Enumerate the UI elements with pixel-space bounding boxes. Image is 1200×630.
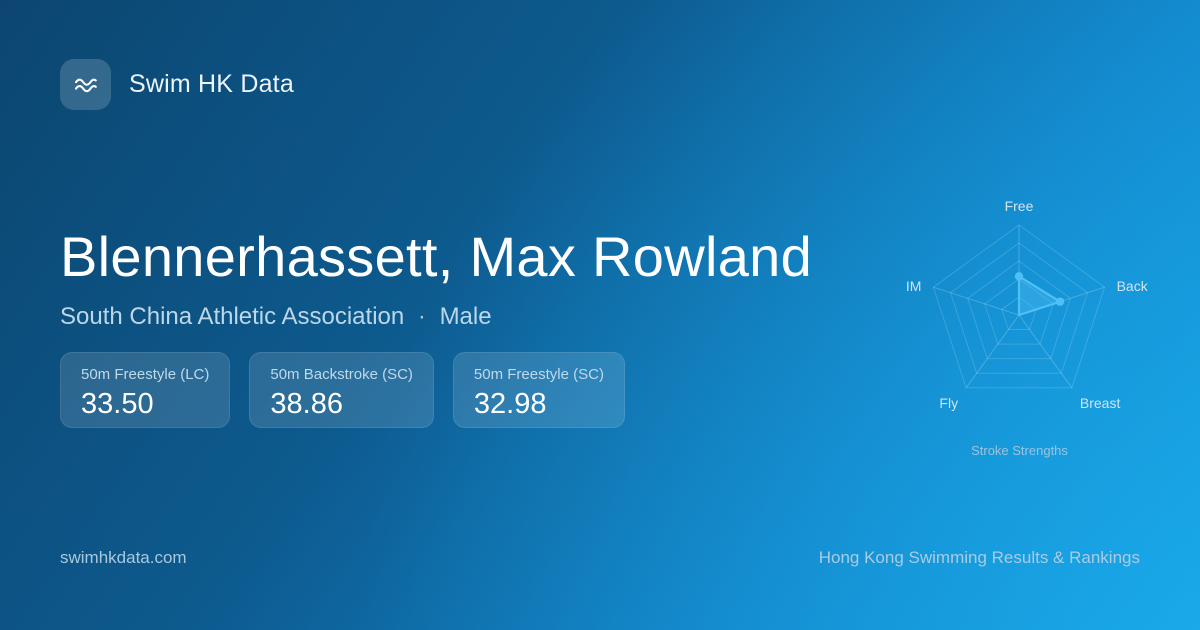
page-title: Blennerhassett, Max Rowland: [60, 222, 880, 292]
stat-card: 50m Freestyle (LC) 33.50: [60, 352, 230, 428]
wave-icon: [60, 59, 111, 110]
svg-text:Breast: Breast: [1080, 395, 1121, 411]
stat-label: 50m Freestyle (LC): [81, 366, 209, 384]
radar-series: [1015, 272, 1064, 315]
footer-site-url: swimhkdata.com: [60, 548, 187, 568]
stat-value: 33.50: [81, 387, 209, 421]
stat-value: 38.86: [270, 387, 413, 421]
og-card: Swim HK Data Blennerhassett, Max Rowland…: [0, 0, 1200, 630]
svg-text:Back: Back: [1117, 278, 1149, 294]
stroke-strengths-radar-chart: FreeBackBreastFlyIM Stroke Strengths: [880, 170, 1170, 470]
brand-lockup: Swim HK Data: [60, 59, 294, 110]
stat-label: 50m Backstroke (SC): [270, 366, 413, 384]
meta-separator: ·: [411, 303, 433, 330]
stat-label: 50m Freestyle (SC): [474, 366, 604, 384]
brand-name: Swim HK Data: [129, 70, 294, 99]
radar-caption: Stroke Strengths: [880, 443, 1159, 458]
stat-card: 50m Freestyle (SC) 32.98: [453, 352, 625, 428]
athlete-club: South China Athletic Association: [60, 303, 404, 330]
athlete-gender: Male: [440, 303, 492, 330]
svg-text:Free: Free: [1005, 198, 1034, 214]
athlete-meta: South China Athletic Association · Male: [60, 302, 880, 332]
svg-text:Fly: Fly: [939, 395, 958, 411]
stat-card-row: 50m Freestyle (LC) 33.50 50m Backstroke …: [60, 352, 625, 428]
headline-block: Blennerhassett, Max Rowland South China …: [60, 222, 880, 332]
stat-card: 50m Backstroke (SC) 38.86: [249, 352, 434, 428]
stat-value: 32.98: [474, 387, 604, 421]
footer-tagline: Hong Kong Swimming Results & Rankings: [819, 548, 1140, 568]
svg-text:IM: IM: [906, 278, 922, 294]
